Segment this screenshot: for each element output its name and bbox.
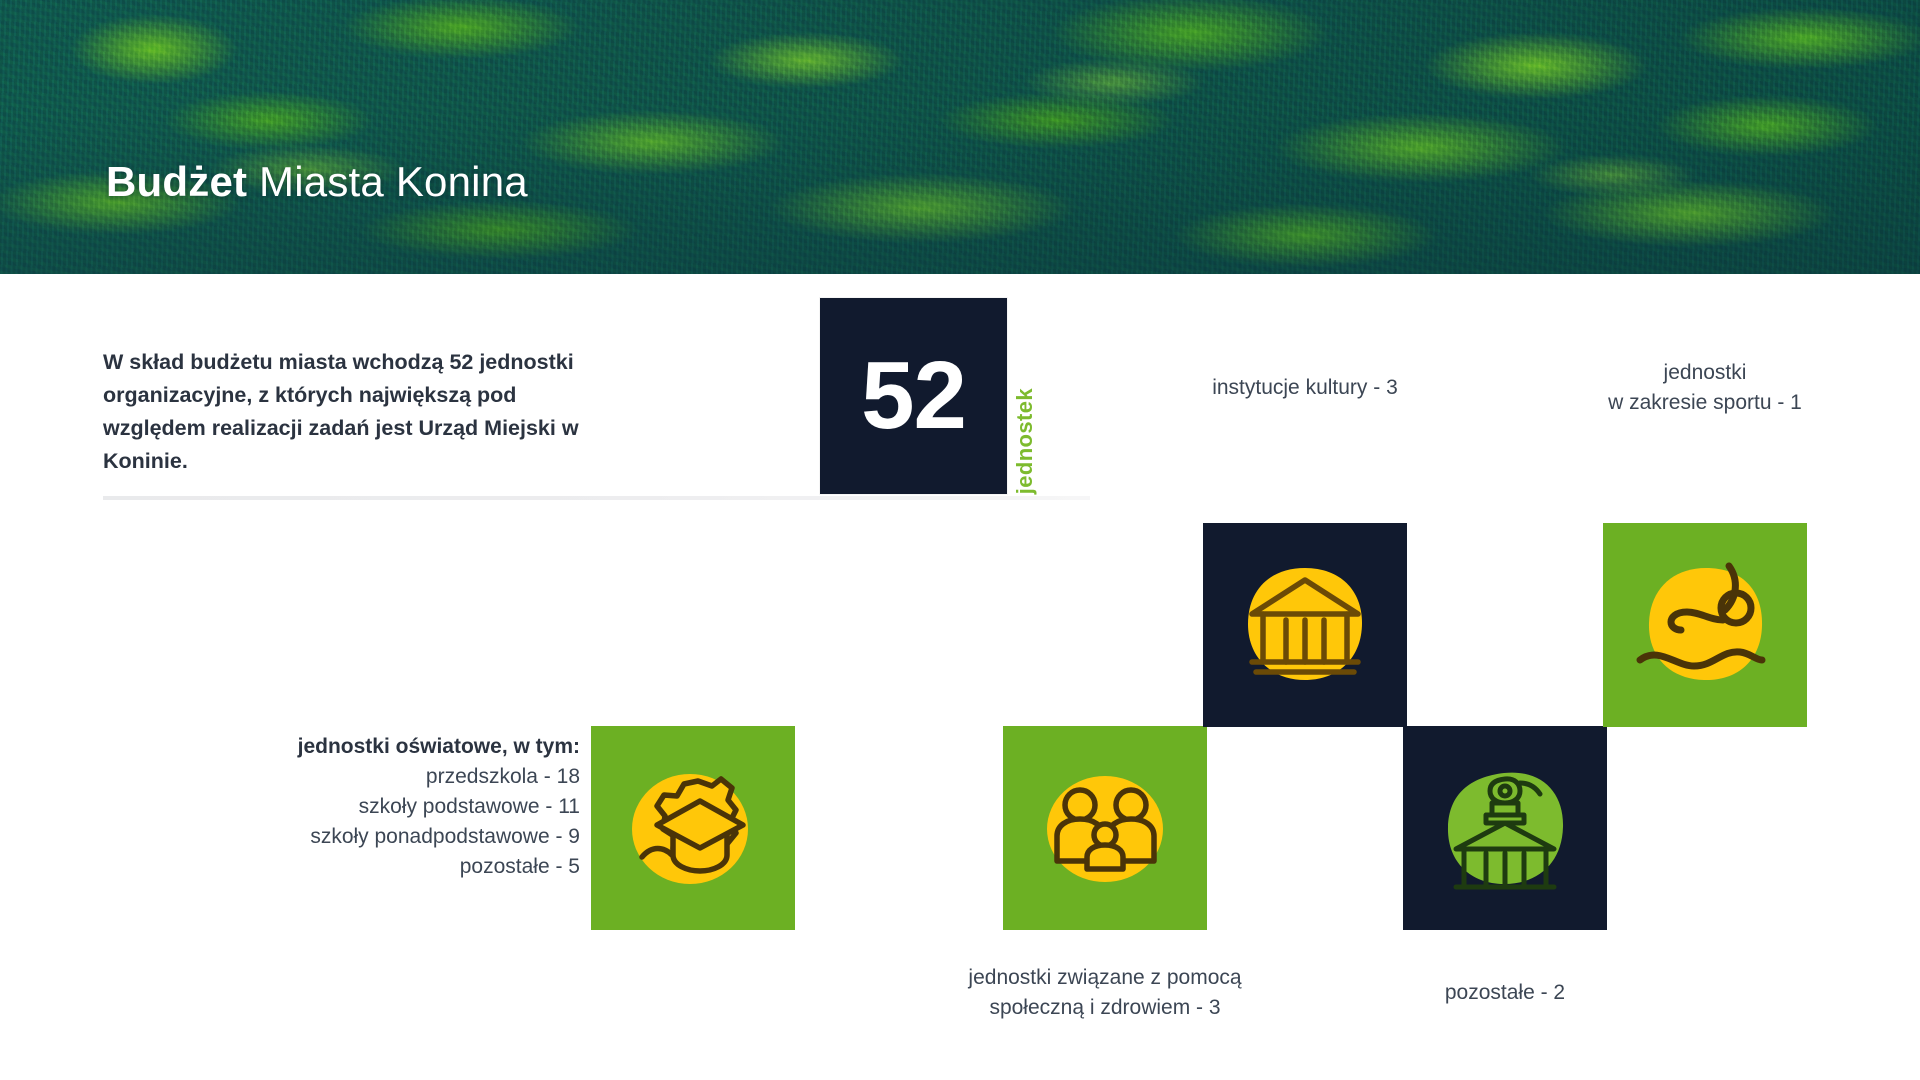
city-hall-icon [1430, 753, 1580, 903]
tile-culture-institutions[interactable] [1203, 523, 1407, 727]
label-sport: jednostki w zakresie sportu - 1 [1555, 358, 1855, 418]
label-other: pozostałe - 2 [1355, 978, 1655, 1008]
horizontal-divider [103, 496, 1090, 500]
total-units-number: 52 [861, 348, 966, 444]
graduation-gear-icon [618, 753, 768, 903]
page-title-rest: Miasta Konina [247, 158, 528, 205]
tile-education[interactable] [591, 726, 795, 930]
content-area: W skład budżetu miasta wchodzą 52 jednos… [0, 274, 1920, 1080]
label-social-line1: jednostki związane z pomocą [968, 966, 1241, 989]
label-education-sub-1: szkoły podstawowe - 11 [180, 792, 580, 822]
label-education-sub-0: przedszkola - 18 [180, 762, 580, 792]
page-title: Budżet Miasta Konina [106, 158, 528, 206]
total-units-unit-wrap: jednostek [1012, 298, 1038, 494]
intro-paragraph: W skład budżetu miasta wchodzą 52 jednos… [103, 346, 608, 478]
tile-sport-units[interactable] [1603, 523, 1807, 727]
label-sport-line2: w zakresie sportu - 1 [1608, 391, 1802, 414]
family-group-icon [1030, 753, 1180, 903]
total-units-box: 52 [820, 298, 1007, 494]
label-education: jednostki oświatowe, w tym: przedszkola … [180, 732, 580, 882]
label-education-sub-2: szkoły ponadpodstawowe - 9 [180, 822, 580, 852]
tile-social-assistance[interactable] [1003, 726, 1207, 930]
label-culture: instytucje kultury - 3 [1100, 373, 1510, 403]
classical-building-icon [1230, 550, 1380, 700]
label-education-sub-3: pozostałe - 5 [180, 852, 580, 882]
header-banner: Budżet Miasta Konina [0, 0, 1920, 274]
photo-shade-overlay [0, 0, 1920, 274]
page-title-bold: Budżet [106, 158, 247, 205]
total-units-unit-label: jednostek [1012, 388, 1038, 494]
label-social-line2: społeczną i zdrowiem - 3 [989, 996, 1220, 1019]
label-sport-line1: jednostki [1664, 361, 1747, 384]
label-social: jednostki związane z pomocą społeczną i … [870, 963, 1340, 1023]
tile-other-units[interactable] [1403, 726, 1607, 930]
label-education-head: jednostki oświatowe, w tym: [180, 732, 580, 762]
swimmer-icon [1630, 550, 1780, 700]
